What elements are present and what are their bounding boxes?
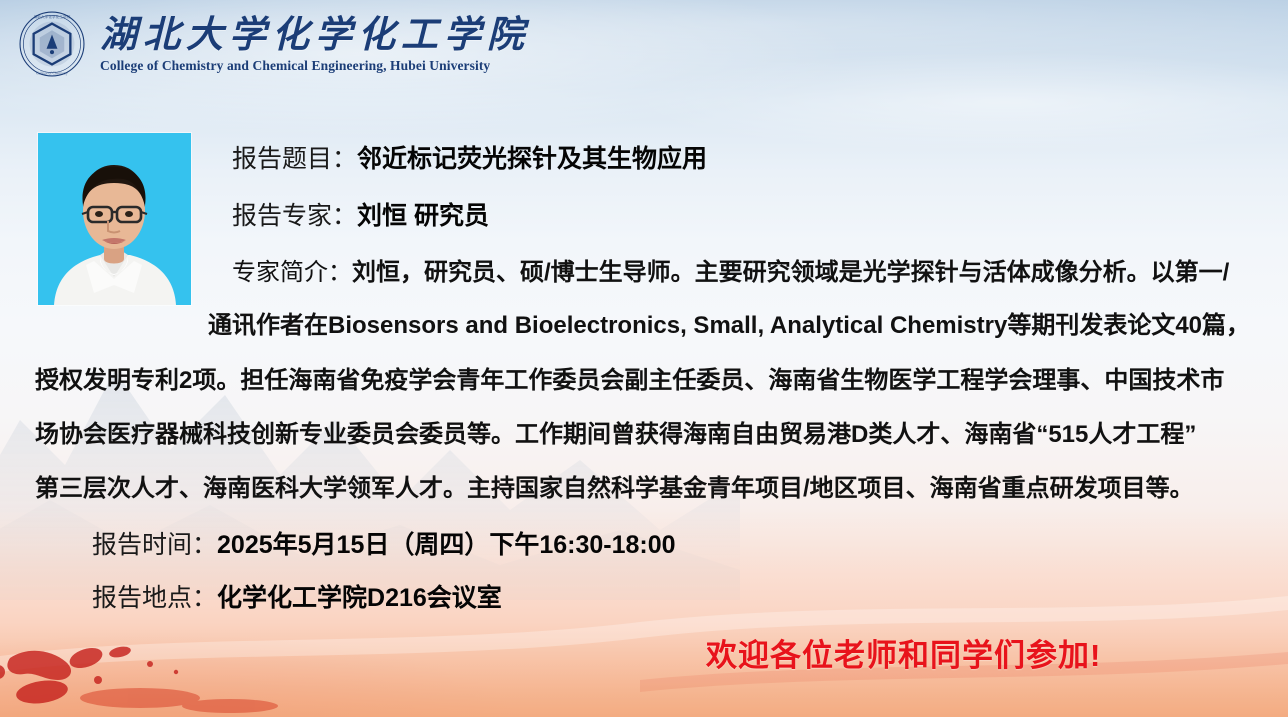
seminar-speaker-value: 刘恒 研究员: [357, 202, 489, 230]
seminar-info: 报告题目：邻近标记荧光探针及其生物应用 报告专家：刘恒 研究员 专家简介：刘恒，…: [0, 0, 1288, 717]
seminar-bio-line-2: 通讯作者在Biosensors and Bioelectronics, Smal…: [208, 305, 1250, 340]
seminar-bio-line-4: 场协会医疗器械科技创新专业委员会委员等。工作期间曾获得海南自由贸易港D类人才、海…: [35, 414, 1196, 449]
portrait-illustration: [38, 133, 191, 305]
seminar-place-line: 报告地点：化学化工学院D216会议室: [92, 578, 502, 614]
svg-text:湖北大学化学化工学院: 湖北大学化学化工学院: [34, 14, 71, 19]
seminar-bio-line-3: 授权发明专利2项。担任海南省免疫学会青年工作委员会副主任委员、海南省生物医学工程…: [35, 360, 1224, 395]
college-header: 湖北大学化学化工学院 College of Chemistry 湖北大学化学化工…: [18, 10, 530, 78]
college-name-cn: 湖北大学化学化工学院: [100, 16, 530, 55]
svg-text:College of Chemistry: College of Chemistry: [36, 72, 68, 76]
seminar-bio-line-1: 专家简介：刘恒，研究员、硕/博士生导师。主要研究领域是光学探针与活体成像分析。以…: [232, 252, 1229, 287]
red-splash-decoration: [0, 628, 290, 717]
seminar-time-label: 报告时间：: [92, 531, 217, 559]
seminar-bio-line-5: 第三层次人才、海南医科大学领军人才。主持国家自然科学基金青年项目/地区项目、海南…: [35, 468, 1194, 503]
seminar-bio-text-1: 刘恒，研究员、硕/博士生导师。主要研究领域是光学探针与活体成像分析。以第一/: [352, 259, 1229, 286]
seminar-place-value: 化学化工学院D216会议室: [217, 584, 502, 612]
seminar-title-line: 报告题目：邻近标记荧光探针及其生物应用: [232, 139, 707, 175]
seminar-poster: 湖北大学化学化工学院 College of Chemistry 湖北大学化学化工…: [0, 0, 1288, 717]
seminar-bio-label: 专家简介：: [232, 259, 352, 286]
seminar-speaker-line: 报告专家：刘恒 研究员: [232, 196, 489, 232]
seminar-time-line: 报告时间：2025年5月15日（周四）下午16:30-18:00: [92, 525, 676, 561]
seminar-place-label: 报告地点：: [92, 584, 217, 612]
seminar-time-value: 2025年5月15日（周四）下午16:30-18:00: [217, 531, 676, 559]
speaker-portrait: [38, 133, 191, 305]
seminar-title-label: 报告题目：: [232, 145, 357, 173]
seminar-title-value: 邻近标记荧光探针及其生物应用: [357, 145, 707, 173]
hexagon-seal-icon: 湖北大学化学化工学院 College of Chemistry: [18, 10, 86, 78]
college-name-en: College of Chemistry and Chemical Engine…: [100, 58, 530, 74]
seminar-speaker-label: 报告专家：: [232, 202, 357, 230]
college-name-block: 湖北大学化学化工学院 College of Chemistry and Chem…: [100, 14, 530, 74]
welcome-message: 欢迎各位老师和同学们参加!: [706, 630, 1101, 675]
